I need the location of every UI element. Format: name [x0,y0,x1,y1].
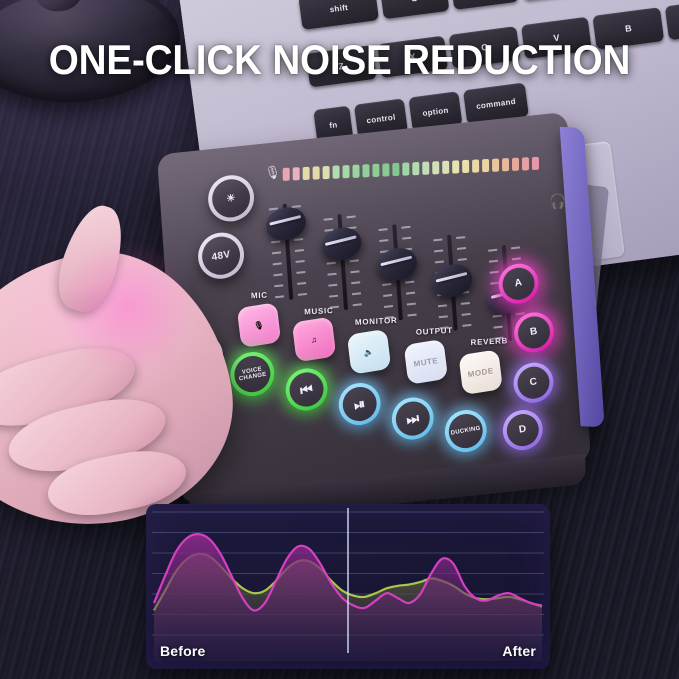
fader-tick [433,238,442,240]
mic-pad-icon: 🎙 [253,320,265,331]
pad-b-label: B [516,314,552,351]
fader-tick [458,258,467,260]
led-segment [482,158,489,171]
mic-icon: 🎙 [264,164,281,181]
led-segment [283,167,290,180]
fader-tick [408,314,417,316]
chart-label-after: After [502,643,536,659]
fader-tick [352,292,361,294]
fader-output[interactable] [441,234,464,331]
fader-tick [295,249,304,251]
fader-tick [401,226,410,228]
pad-reverb-mode[interactable]: MODE [458,349,502,395]
fader-tick [512,257,521,259]
fader-tick [457,247,466,249]
product-marketing-image: shift S D F G H Z X C V B N fn control o… [0,0,679,679]
fader-tick [407,303,416,305]
led-segment [532,156,539,169]
fader-tick [271,240,280,242]
key-shift[interactable]: shift [298,0,379,30]
fader-tick [297,282,306,284]
led-segment [492,158,499,171]
fader-tick [298,293,307,295]
pad-a-label: A [501,265,537,302]
fader-music[interactable] [331,213,354,310]
monitor-pad-icon: 🔈 [363,346,374,357]
page-title: ONE-CLICK NOISE REDUCTION [27,36,652,84]
label-music: MUSIC [304,306,333,317]
pad-mute[interactable]: MUTE [404,339,448,385]
fader-tick [273,262,282,264]
label-output: OUTPUT [416,326,453,337]
pad-mic[interactable]: 🎙 [237,302,281,348]
fader-tick [406,292,415,294]
led-segment [522,157,529,170]
led-segment [293,167,300,180]
fader-tick [379,239,388,241]
led-segment [402,162,409,175]
fader-tick [434,249,443,251]
ducking-label: DUCKING [447,411,485,451]
fader-tick [402,237,411,239]
microphone-stem [27,0,88,13]
led-segment [323,165,330,178]
fader-tick [456,236,465,238]
previous-track-icon: ⏮ [287,370,325,410]
play-pause-icon: ⏯ [341,384,379,424]
headphone-icon: 🎧 [549,193,567,211]
fader-tick [294,238,303,240]
fader-tick [493,315,502,317]
fader-tick [328,273,337,275]
key-s[interactable]: S [380,0,449,19]
fader-monitor[interactable] [386,224,409,321]
pad-music[interactable]: ♫ [292,316,336,362]
fader-tick [272,251,281,253]
fader-tick [511,246,520,248]
fader-tick [273,273,282,275]
noise-reduction-chart-panel: Before After [146,504,550,669]
fader-tick [296,271,305,273]
next-track-icon: ⏭ [394,399,432,439]
fader-tick [379,228,388,230]
led-segment [303,166,310,179]
led-segment [442,160,449,173]
fader-tick [462,313,471,315]
key-d[interactable]: D [450,0,520,10]
led-segment [452,160,459,173]
mode-pad-label: MODE [467,366,494,379]
fader-tick [383,294,392,296]
led-segment [422,161,429,174]
fader-tick [462,324,471,326]
fader-tick [324,218,333,220]
led-segment [333,165,340,178]
mute-pad-label: MUTE [413,355,439,368]
fader-tick [489,260,498,262]
fader-tick [329,295,338,297]
led-segment [412,161,419,174]
pad-monitor[interactable]: 🔈 [347,329,391,375]
fader-tick [494,326,503,328]
key-f[interactable]: F [520,0,589,1]
phantom-power-label: 48V [200,234,243,278]
led-segment [313,166,320,179]
fader-tick [353,303,362,305]
led-segment [382,163,389,176]
fader-tick [327,262,336,264]
led-segment [512,157,519,170]
brightness-icon: ☀ [210,176,253,220]
waveform-comparison-chart [146,504,550,669]
fader-tick [438,304,447,306]
fader-tick [439,315,448,317]
fader-tick [351,281,360,283]
voice-change-label: VOICE CHANGE [232,353,273,395]
led-segment [392,162,399,175]
led-segment [502,158,509,171]
fader-tick [490,271,499,273]
fader-tick [384,305,393,307]
led-segment [432,161,439,174]
fader-tick [275,295,284,297]
fader-mic[interactable] [277,203,300,300]
fader-tick [274,284,283,286]
fader-tick [435,260,444,262]
pad-c-label: C [515,364,551,401]
led-segment [472,159,479,172]
music-pad-icon: ♫ [310,334,318,344]
key-n[interactable]: N [665,0,679,40]
led-segment [352,164,359,177]
chart-label-before: Before [160,643,206,659]
led-segment [462,159,469,172]
led-segment [372,163,379,176]
fader-tick [296,260,305,262]
fader-tick [350,259,359,261]
fader-tick [461,302,470,304]
fader-tick [350,270,359,272]
fader-tick [382,283,391,285]
fader-tick [328,284,337,286]
led-segment [362,164,369,177]
fader-tick [405,281,414,283]
led-segment [342,165,349,178]
label-mic: MIC [251,290,268,300]
fader-tick [347,215,356,217]
pad-d-label: D [505,412,541,449]
fader-tick [488,249,497,251]
